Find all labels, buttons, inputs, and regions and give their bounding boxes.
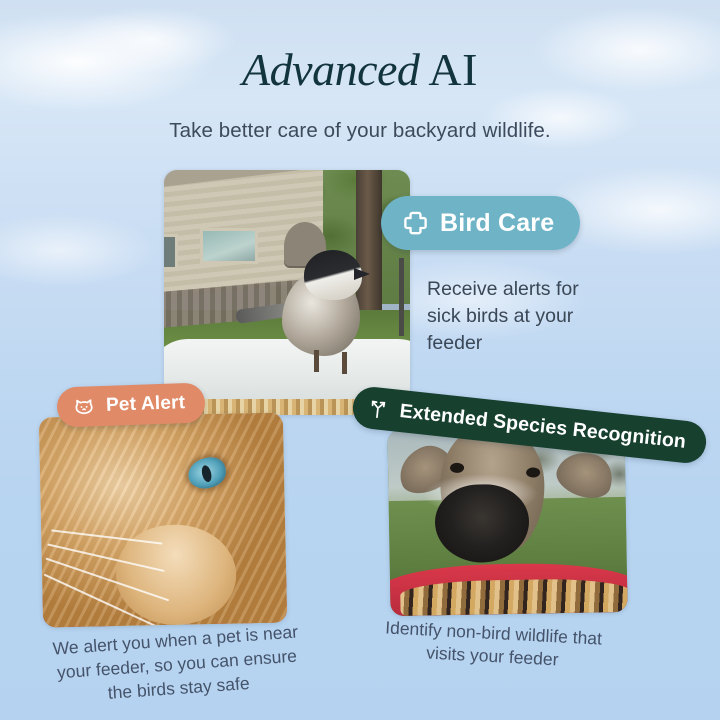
deer-track-icon	[366, 396, 390, 421]
infographic-canvas: AdvancedAI Take better care of your back…	[0, 0, 720, 720]
bird-photo	[164, 170, 410, 415]
badge-pet-alert[interactable]: Pet Alert	[56, 382, 206, 427]
page-title: AdvancedAI	[0, 44, 720, 96]
bird-photo-window-side	[164, 234, 178, 270]
badge-pet-alert-label: Pet Alert	[106, 392, 186, 417]
bird-photo-bird-leg	[342, 352, 347, 374]
pet-alert-caption: We alert you when a pet is near your fee…	[50, 619, 304, 708]
badge-bird-care-label: Bird Care	[440, 209, 554, 238]
page-subtitle: Take better care of your backyard wildli…	[0, 118, 720, 144]
bird-photo-window	[200, 228, 258, 264]
bird-care-description: Receive alerts for sick birds at your fe…	[427, 276, 617, 357]
page-title-ai: AI	[428, 44, 478, 95]
page-title-advanced: Advanced	[242, 44, 419, 95]
cat-photo	[39, 412, 287, 627]
badge-bird-care[interactable]: Bird Care	[381, 196, 580, 250]
medical-cross-icon	[402, 210, 429, 237]
cat-photo-pupil	[200, 464, 213, 483]
bird-photo-bird-beak	[354, 268, 370, 280]
cat-face-icon	[73, 395, 96, 418]
deer-photo	[387, 426, 627, 616]
bird-photo-bird-leg	[314, 350, 319, 372]
extended-species-caption: Identify non-bird wildlife that visits y…	[371, 616, 615, 675]
bird-photo-pole	[399, 258, 404, 336]
deer-photo-seed	[400, 578, 628, 616]
